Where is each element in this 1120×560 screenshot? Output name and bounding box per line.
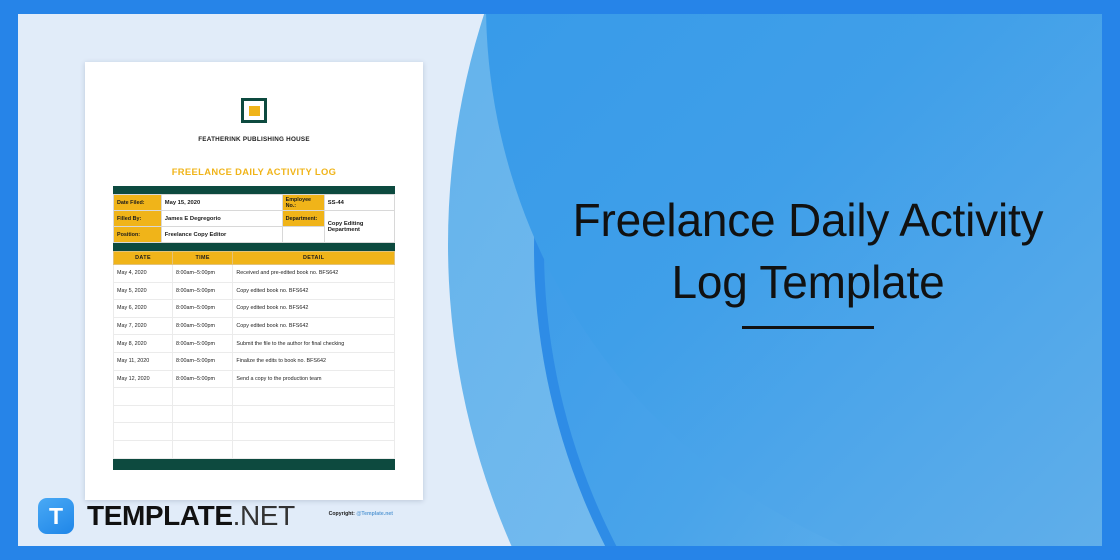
template-net-mark-icon: T [38, 498, 74, 534]
row-cell-detail[interactable]: Received and pre-edited book no. BFS642 [233, 265, 395, 283]
row-cell-date[interactable] [114, 388, 173, 406]
document-logo: FEATHERINK PUBLISHING HOUSE [113, 98, 395, 143]
row-cell-time[interactable]: 8:00am–5:00pm [173, 370, 233, 388]
row-cell-time[interactable] [173, 405, 233, 423]
document-title: FREELANCE DAILY ACTIVITY LOG [113, 166, 395, 177]
row-cell-date[interactable]: May 4, 2020 [114, 265, 173, 283]
table-row[interactable]: May 12, 20208:00am–5:00pmSend a copy to … [114, 370, 395, 388]
document-preview[interactable]: FEATHERINK PUBLISHING HOUSE FREELANCE DA… [85, 62, 423, 500]
brand-word-bold: TEMPLATE [87, 500, 233, 531]
row-cell-date[interactable] [114, 405, 173, 423]
row-cell-detail[interactable]: Submit the file to the author for final … [233, 335, 395, 353]
row-cell-detail[interactable] [233, 423, 395, 441]
table-row[interactable]: May 6, 20208:00am–5:00pmCopy edited book… [114, 300, 395, 318]
employee-no-label: Employee No.: [282, 195, 324, 211]
promo-underline-rule [742, 326, 874, 329]
promo-headline-line-1: Freelance Daily Activity [538, 189, 1078, 251]
table-row[interactable]: May 11, 20208:00am–5:00pmFinalize the ed… [114, 352, 395, 370]
activity-grid-footer-bar [113, 459, 395, 470]
table-row[interactable]: May 7, 20208:00am–5:00pmCopy edited book… [114, 317, 395, 335]
promo-headline-line-2: Log Template [538, 251, 1078, 313]
row-cell-time[interactable]: 8:00am–5:00pm [173, 335, 233, 353]
row-cell-time[interactable]: 8:00am–5:00pm [173, 352, 233, 370]
copyright-link[interactable]: @Template.net [356, 511, 393, 517]
row-cell-date[interactable]: May 6, 2020 [114, 300, 173, 318]
row-cell-detail[interactable] [233, 388, 395, 406]
table-row[interactable] [114, 388, 395, 406]
info-row-filled-by: Filled By: James E Degregorio Department… [114, 211, 395, 227]
filled-by-label: Filled By: [114, 211, 162, 227]
row-cell-date[interactable] [114, 423, 173, 441]
row-cell-date[interactable]: May 7, 2020 [114, 317, 173, 335]
row-cell-time[interactable] [173, 388, 233, 406]
row-cell-date[interactable] [114, 440, 173, 458]
column-header-date: DATE [114, 252, 173, 265]
brand-word-light: .NET [233, 500, 295, 531]
promo-banner: FEATHERINK PUBLISHING HOUSE FREELANCE DA… [0, 0, 1120, 560]
table-row[interactable] [114, 440, 395, 458]
employee-no-value[interactable]: SS-44 [324, 195, 394, 211]
department-value[interactable]: Copy Editing Department [324, 211, 394, 243]
position-label: Position: [114, 227, 162, 243]
info-empty-cell [282, 227, 324, 243]
row-cell-time[interactable]: 8:00am–5:00pm [173, 317, 233, 335]
date-filed-value[interactable]: May 15, 2020 [161, 195, 282, 211]
position-value[interactable]: Freelance Copy Editor [161, 227, 282, 243]
copyright-label: Copyright: [329, 511, 355, 517]
row-cell-detail[interactable]: Copy edited book no. BFS642 [233, 317, 395, 335]
row-cell-time[interactable] [173, 423, 233, 441]
table-row[interactable]: May 8, 20208:00am–5:00pmSubmit the file … [114, 335, 395, 353]
activity-grid-body: May 4, 20208:00am–5:00pmReceived and pre… [114, 265, 395, 459]
template-net-wordmark: TEMPLATE.NET [87, 502, 295, 530]
row-cell-detail[interactable]: Copy edited book no. BFS642 [233, 282, 395, 300]
info-row-date-filed: Date Filed: May 15, 2020 Employee No.: S… [114, 195, 395, 211]
row-cell-time[interactable]: 8:00am–5:00pm [173, 265, 233, 283]
info-table: Date Filed: May 15, 2020 Employee No.: S… [113, 194, 395, 243]
company-name: FEATHERINK PUBLISHING HOUSE [113, 136, 395, 143]
activity-grid: DATE TIME DETAIL May 4, 20208:00am–5:00p… [113, 251, 395, 470]
promo-headline: Freelance Daily Activity Log Template [538, 189, 1078, 329]
template-net-logo[interactable]: T TEMPLATE.NET [38, 498, 295, 534]
info-top-bar [113, 186, 395, 194]
row-cell-detail[interactable]: Send a copy to the production team [233, 370, 395, 388]
table-row[interactable] [114, 423, 395, 441]
table-row[interactable] [114, 405, 395, 423]
date-filed-label: Date Filed: [114, 195, 162, 211]
row-cell-detail[interactable]: Copy edited book no. BFS642 [233, 300, 395, 318]
row-cell-time[interactable] [173, 440, 233, 458]
row-cell-date[interactable]: May 12, 2020 [114, 370, 173, 388]
row-cell-detail[interactable]: Finalize the edits to book no. BFS642 [233, 352, 395, 370]
department-label: Department: [282, 211, 324, 227]
column-header-time: TIME [173, 252, 233, 265]
row-cell-detail[interactable] [233, 440, 395, 458]
info-bottom-bar [113, 243, 395, 251]
activity-header-row: DATE TIME DETAIL [114, 252, 395, 265]
table-row[interactable]: May 5, 20208:00am–5:00pmCopy edited book… [114, 282, 395, 300]
table-row[interactable]: May 4, 20208:00am–5:00pmReceived and pre… [114, 265, 395, 283]
row-cell-time[interactable]: 8:00am–5:00pm [173, 300, 233, 318]
filled-by-value[interactable]: James E Degregorio [161, 211, 282, 227]
row-cell-date[interactable]: May 11, 2020 [114, 352, 173, 370]
column-header-detail: DETAIL [233, 252, 395, 265]
row-cell-date[interactable]: May 5, 2020 [114, 282, 173, 300]
row-cell-date[interactable]: May 8, 2020 [114, 335, 173, 353]
green-square-logo-icon [241, 98, 267, 123]
row-cell-detail[interactable] [233, 405, 395, 423]
row-cell-time[interactable]: 8:00am–5:00pm [173, 282, 233, 300]
banner-stage: FEATHERINK PUBLISHING HOUSE FREELANCE DA… [18, 14, 1102, 546]
